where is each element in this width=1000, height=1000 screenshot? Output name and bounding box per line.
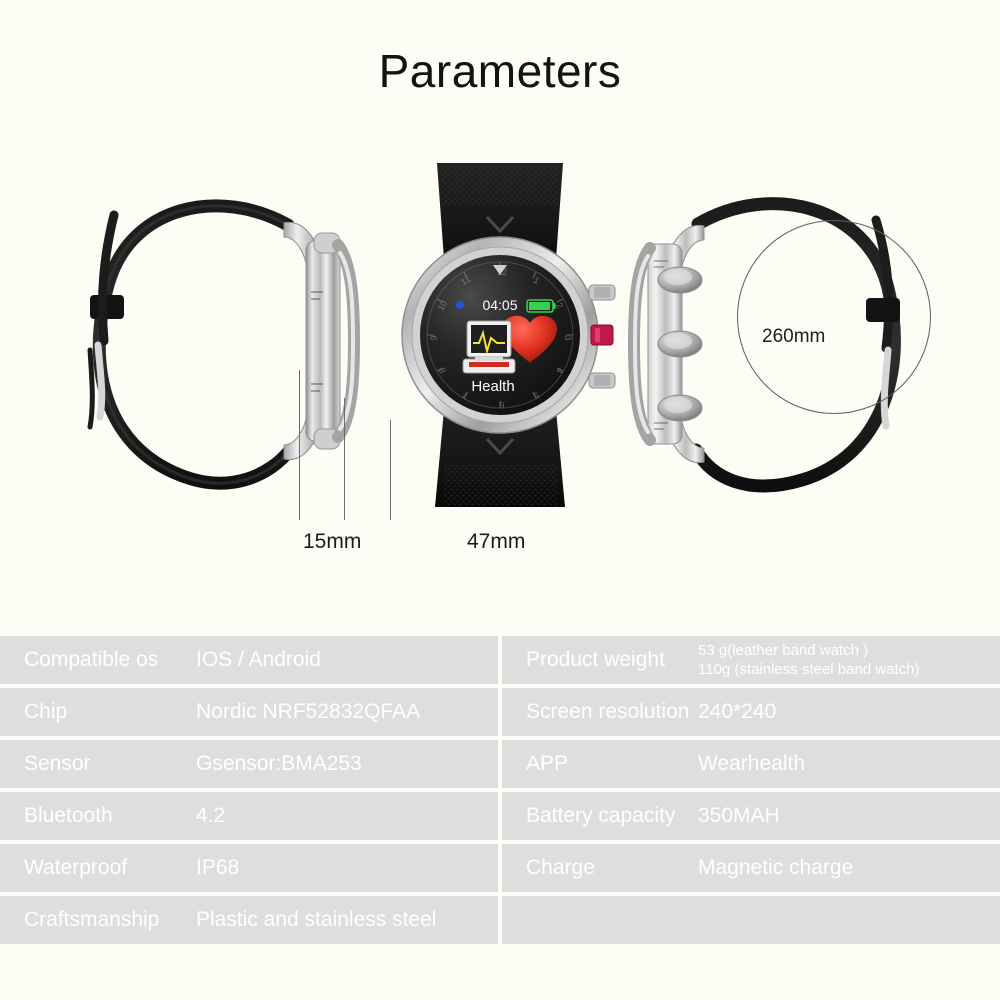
specification-table: Compatible os IOS / Android Chip Nordic … — [0, 636, 1000, 946]
spec-key: Product weight — [502, 648, 698, 672]
page-title: Parameters — [0, 44, 1000, 98]
watch-app-label: Health — [471, 378, 514, 395]
table-row: Product weight 53 g(leather band watch )… — [502, 636, 1000, 684]
spec-key: Chip — [0, 700, 196, 724]
product-views: 1 2 3 4 5 6 7 8 9 10 11 12 04:05 — [0, 130, 1000, 630]
leader-line-1 — [299, 370, 300, 520]
watch-front-view: 1 2 3 4 5 6 7 8 9 10 11 12 04:05 — [375, 155, 625, 515]
table-row: Charge Magnetic charge — [502, 844, 1000, 892]
bluetooth-icon — [456, 301, 464, 309]
leader-line-3 — [390, 420, 391, 520]
spec-value: Magnetic charge — [698, 856, 853, 881]
svg-text:6: 6 — [499, 400, 504, 410]
leader-line-2 — [344, 398, 345, 520]
spec-column-left: Compatible os IOS / Android Chip Nordic … — [0, 636, 498, 946]
crown-bottom — [589, 373, 615, 388]
crown-red — [591, 325, 613, 345]
table-row: Craftsmanship Plastic and stainless stee… — [0, 896, 498, 944]
spec-value: 53 g(leather band watch ) 110g (stainles… — [698, 641, 920, 679]
case-diameter-label: 47mm — [467, 530, 525, 554]
crown-top — [589, 285, 615, 300]
table-row: APP Wearhealth — [502, 740, 1000, 788]
spec-value: Plastic and stainless steel — [196, 908, 436, 933]
spec-key: Waterproof — [0, 856, 196, 880]
table-row: Waterproof IP68 — [0, 844, 498, 892]
spec-value: IOS / Android — [196, 648, 321, 673]
table-row-empty — [502, 896, 1000, 944]
spec-value: Nordic NRF52832QFAA — [196, 700, 420, 725]
watch-left-side-view — [70, 145, 370, 525]
svg-text:9: 9 — [429, 335, 439, 340]
spec-value: 350MAH — [698, 804, 780, 829]
table-row: Bluetooth 4.2 — [0, 792, 498, 840]
table-row: Chip Nordic NRF52832QFAA — [0, 688, 498, 736]
spec-value: IP68 — [196, 856, 239, 881]
spec-key: Craftsmanship — [0, 908, 196, 932]
table-row: Sensor Gsensor:BMA253 — [0, 740, 498, 788]
watch-time: 04:05 — [482, 297, 517, 313]
spec-value: Gsensor:BMA253 — [196, 752, 362, 777]
spec-key: Screen resolution — [502, 700, 698, 724]
spec-key: Sensor — [0, 752, 196, 776]
spec-value: 4.2 — [196, 804, 225, 829]
spec-key: Charge — [502, 856, 698, 880]
strap-circumference-arc — [737, 220, 931, 414]
pusher-bottom — [658, 395, 702, 421]
spec-column-right: Product weight 53 g(leather band watch )… — [502, 636, 1000, 946]
svg-text:3: 3 — [563, 335, 573, 340]
strap-circumference-label: 260mm — [762, 326, 825, 348]
table-row: Screen resolution 240*240 — [502, 688, 1000, 736]
spec-key: Battery capacity — [502, 804, 698, 828]
spec-key: Bluetooth — [0, 804, 196, 828]
spec-key: Compatible os — [0, 648, 196, 672]
pusher-middle — [658, 331, 702, 357]
spec-value: Wearhealth — [698, 752, 805, 777]
ecg-monitor-icon — [463, 321, 515, 373]
table-row: Battery capacity 350MAH — [502, 792, 1000, 840]
band-width-label: 15mm — [303, 530, 361, 554]
parameters-page: Parameters — [0, 0, 1000, 1000]
pusher-top — [658, 267, 702, 293]
spec-key: APP — [502, 752, 698, 776]
table-row: Compatible os IOS / Android — [0, 636, 498, 684]
spec-value: 240*240 — [698, 700, 776, 725]
